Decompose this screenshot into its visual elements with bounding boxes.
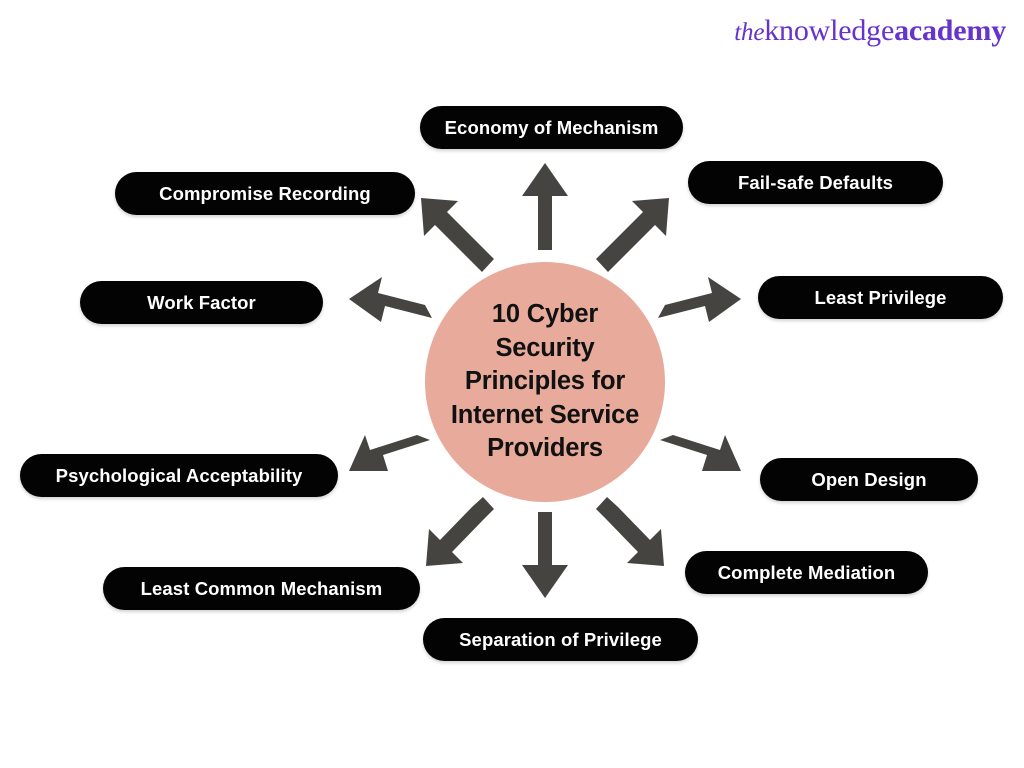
node-least-common-mechanism[interactable]: Least Common Mechanism xyxy=(103,567,420,610)
arrow-up-to-economy-of-mechanism xyxy=(522,163,568,250)
arrow-right-up-to-least-privilege xyxy=(658,277,741,322)
center-hub: 10 Cyber Security Principles for Interne… xyxy=(425,262,665,502)
logo-text-the: the xyxy=(734,19,764,46)
node-compromise-recording[interactable]: Compromise Recording xyxy=(115,172,415,215)
arrow-left-down-to-psychological-acceptability xyxy=(349,435,430,471)
center-line-5: Providers xyxy=(487,434,603,462)
node-open-design[interactable]: Open Design xyxy=(760,458,978,501)
node-separation-of-privilege[interactable]: Separation of Privilege xyxy=(423,618,698,661)
center-line-4: Internet Service xyxy=(451,401,639,429)
diagram-canvas: theknowledgeacademy xyxy=(0,0,1024,768)
arrow-down-left-to-least-common-mechanism xyxy=(426,497,494,566)
center-hub-title: 10 Cyber Security Principles for Interne… xyxy=(451,298,639,466)
center-line-3: Principles for xyxy=(465,367,625,395)
node-fail-safe-defaults[interactable]: Fail-safe Defaults xyxy=(688,161,943,204)
brand-logo: theknowledgeacademy xyxy=(734,16,1006,46)
center-line-2: Security xyxy=(495,334,594,362)
node-least-privilege[interactable]: Least Privilege xyxy=(758,276,1003,319)
center-line-1: 10 Cyber xyxy=(492,300,598,328)
node-work-factor[interactable]: Work Factor xyxy=(80,281,323,324)
arrow-down-to-separation-of-privilege xyxy=(522,512,568,598)
logo-text-knowledge: knowledge xyxy=(764,14,894,47)
arrow-right-down-to-open-design xyxy=(660,435,741,471)
arrow-down-right-to-complete-mediation xyxy=(596,497,664,566)
arrow-up-right-to-fail-safe-defaults xyxy=(596,198,669,272)
arrow-left-up-to-work-factor xyxy=(349,277,432,322)
logo-text-academy: academy xyxy=(894,14,1006,47)
node-psychological-acceptability[interactable]: Psychological Acceptability xyxy=(20,454,338,497)
node-complete-mediation[interactable]: Complete Mediation xyxy=(685,551,928,594)
arrow-up-left-to-compromise-recording xyxy=(421,198,494,272)
node-economy-of-mechanism[interactable]: Economy of Mechanism xyxy=(420,106,683,149)
